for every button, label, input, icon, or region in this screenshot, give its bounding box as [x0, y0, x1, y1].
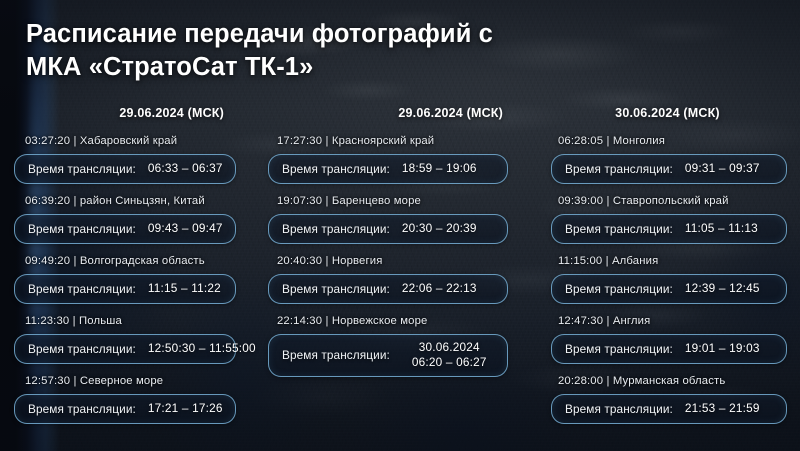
- broadcast-time-value: 18:59 – 19:06: [402, 161, 477, 176]
- pass-time-label: 09:49:20 | Волгоградская область: [14, 255, 246, 267]
- schedule-column-3: 30.06.2024 (МСК) 06:28:05 | Монголия Вре…: [545, 106, 800, 435]
- broadcast-time-label: Время трансляции:: [565, 222, 673, 236]
- schedule-columns: 29.06.2024 (МСК) 03:27:20 | Хабаровский …: [0, 106, 800, 435]
- broadcast-time-card[interactable]: Время трансляции: 12:39 – 12:45: [551, 274, 787, 304]
- broadcast-time-value: 06:33 – 06:37: [148, 161, 223, 176]
- broadcast-time-card[interactable]: Время трансляции: 22:06 – 22:13: [268, 274, 508, 304]
- broadcast-time-card[interactable]: Время трансляции: 21:53 – 21:59: [551, 394, 787, 424]
- broadcast-time-card[interactable]: Время трансляции: 09:31 – 09:37: [551, 154, 787, 184]
- pass-time-label: 19:07:30 | Баренцево море: [268, 195, 525, 207]
- pass-time-label: 09:39:00 | Ставропольский край: [551, 195, 790, 207]
- pass-time-label: 20:28:00 | Мурманская область: [551, 375, 790, 387]
- broadcast-time-label: Время трансляции:: [282, 222, 390, 236]
- broadcast-time-value: 12:39 – 12:45: [685, 281, 760, 296]
- pass-time-label: 06:39:20 | район Синьцзян, Китай: [14, 195, 246, 207]
- pass-time-label: 06:28:05 | Монголия: [551, 135, 790, 147]
- broadcast-time-label: Время трансляции:: [565, 342, 673, 356]
- broadcast-time-value: 09:31 – 09:37: [685, 161, 760, 176]
- broadcast-time-value: 21:53 – 21:59: [685, 401, 760, 416]
- schedule-column-2: 29.06.2024 (МСК) 17:27:30 | Красноярский…: [268, 106, 545, 435]
- schedule-column-1: 29.06.2024 (МСК) 03:27:20 | Хабаровский …: [0, 106, 268, 435]
- pass-time-label: 22:14:30 | Норвежское море: [268, 315, 525, 327]
- broadcast-time-card[interactable]: Время трансляции: 11:15 – 11:22: [14, 274, 236, 304]
- broadcast-time-card[interactable]: Время трансляции: 20:30 – 20:39: [268, 214, 508, 244]
- pass-time-label: 17:27:30 | Красноярский край: [268, 135, 525, 147]
- broadcast-time-card[interactable]: Время трансляции: 09:43 – 09:47: [14, 214, 236, 244]
- broadcast-time-label: Время трансляции:: [565, 402, 673, 416]
- pass-time-label: 12:47:30 | Англия: [551, 315, 790, 327]
- broadcast-time-value: 11:05 – 11:13: [685, 221, 758, 236]
- broadcast-time-card[interactable]: Время трансляции: 06:33 – 06:37: [14, 154, 236, 184]
- column-header-date-2: 29.06.2024 (МСК): [268, 106, 525, 120]
- broadcast-time-card[interactable]: Время трансляции: 11:05 – 11:13: [551, 214, 787, 244]
- broadcast-time-card[interactable]: Время трансляции: 30.06.2024 06:20 – 06:…: [268, 334, 508, 377]
- broadcast-time-label: Время трансляции:: [28, 342, 136, 356]
- broadcast-time-label: Время трансляции:: [282, 282, 390, 296]
- broadcast-time-value: 22:06 – 22:13: [402, 281, 477, 296]
- pass-time-label: 03:27:20 | Хабаровский край: [14, 135, 246, 147]
- broadcast-time-label: Время трансляции:: [565, 162, 673, 176]
- broadcast-time-value: 20:30 – 20:39: [402, 221, 477, 236]
- broadcast-time-value: 11:15 – 11:22: [148, 281, 221, 296]
- broadcast-time-label: Время трансляции:: [282, 348, 390, 362]
- column-header-date-1: 29.06.2024 (МСК): [14, 106, 246, 120]
- broadcast-time-label: Время трансляции:: [565, 282, 673, 296]
- pass-time-label: 11:15:00 | Албания: [551, 255, 790, 267]
- broadcast-time-card[interactable]: Время трансляции: 18:59 – 19:06: [268, 154, 508, 184]
- broadcast-time-value: 17:21 – 17:26: [148, 401, 223, 416]
- broadcast-time-label: Время трансляции:: [282, 162, 390, 176]
- pass-time-label: 11:23:30 | Польша: [14, 315, 246, 327]
- pass-time-label: 12:57:30 | Северное море: [14, 375, 246, 387]
- broadcast-time-card[interactable]: Время трансляции: 19:01 – 19:03: [551, 334, 787, 364]
- broadcast-time-value: 19:01 – 19:03: [685, 341, 760, 356]
- broadcast-time-value: 09:43 – 09:47: [148, 221, 223, 236]
- page-title: Расписание передачи фотографий с МКА «Ст…: [26, 18, 586, 84]
- column-header-date-3: 30.06.2024 (МСК): [551, 106, 790, 120]
- broadcast-time-card[interactable]: Время трансляции: 12:50:30 – 11:55:00: [14, 334, 236, 364]
- broadcast-time-label: Время трансляции:: [28, 222, 136, 236]
- content-layer: Расписание передачи фотографий с МКА «Ст…: [0, 0, 800, 451]
- broadcast-time-label: Время трансляции:: [28, 162, 136, 176]
- broadcast-time-label: Время трансляции:: [28, 282, 136, 296]
- schedule-screen: Расписание передачи фотографий с МКА «Ст…: [0, 0, 800, 451]
- broadcast-time-label: Время трансляции:: [28, 402, 136, 416]
- broadcast-time-value: 30.06.2024 06:20 – 06:27: [412, 340, 487, 371]
- broadcast-time-card[interactable]: Время трансляции: 17:21 – 17:26: [14, 394, 236, 424]
- broadcast-time-value: 12:50:30 – 11:55:00: [148, 341, 256, 356]
- pass-time-label: 20:40:30 | Норвегия: [268, 255, 525, 267]
